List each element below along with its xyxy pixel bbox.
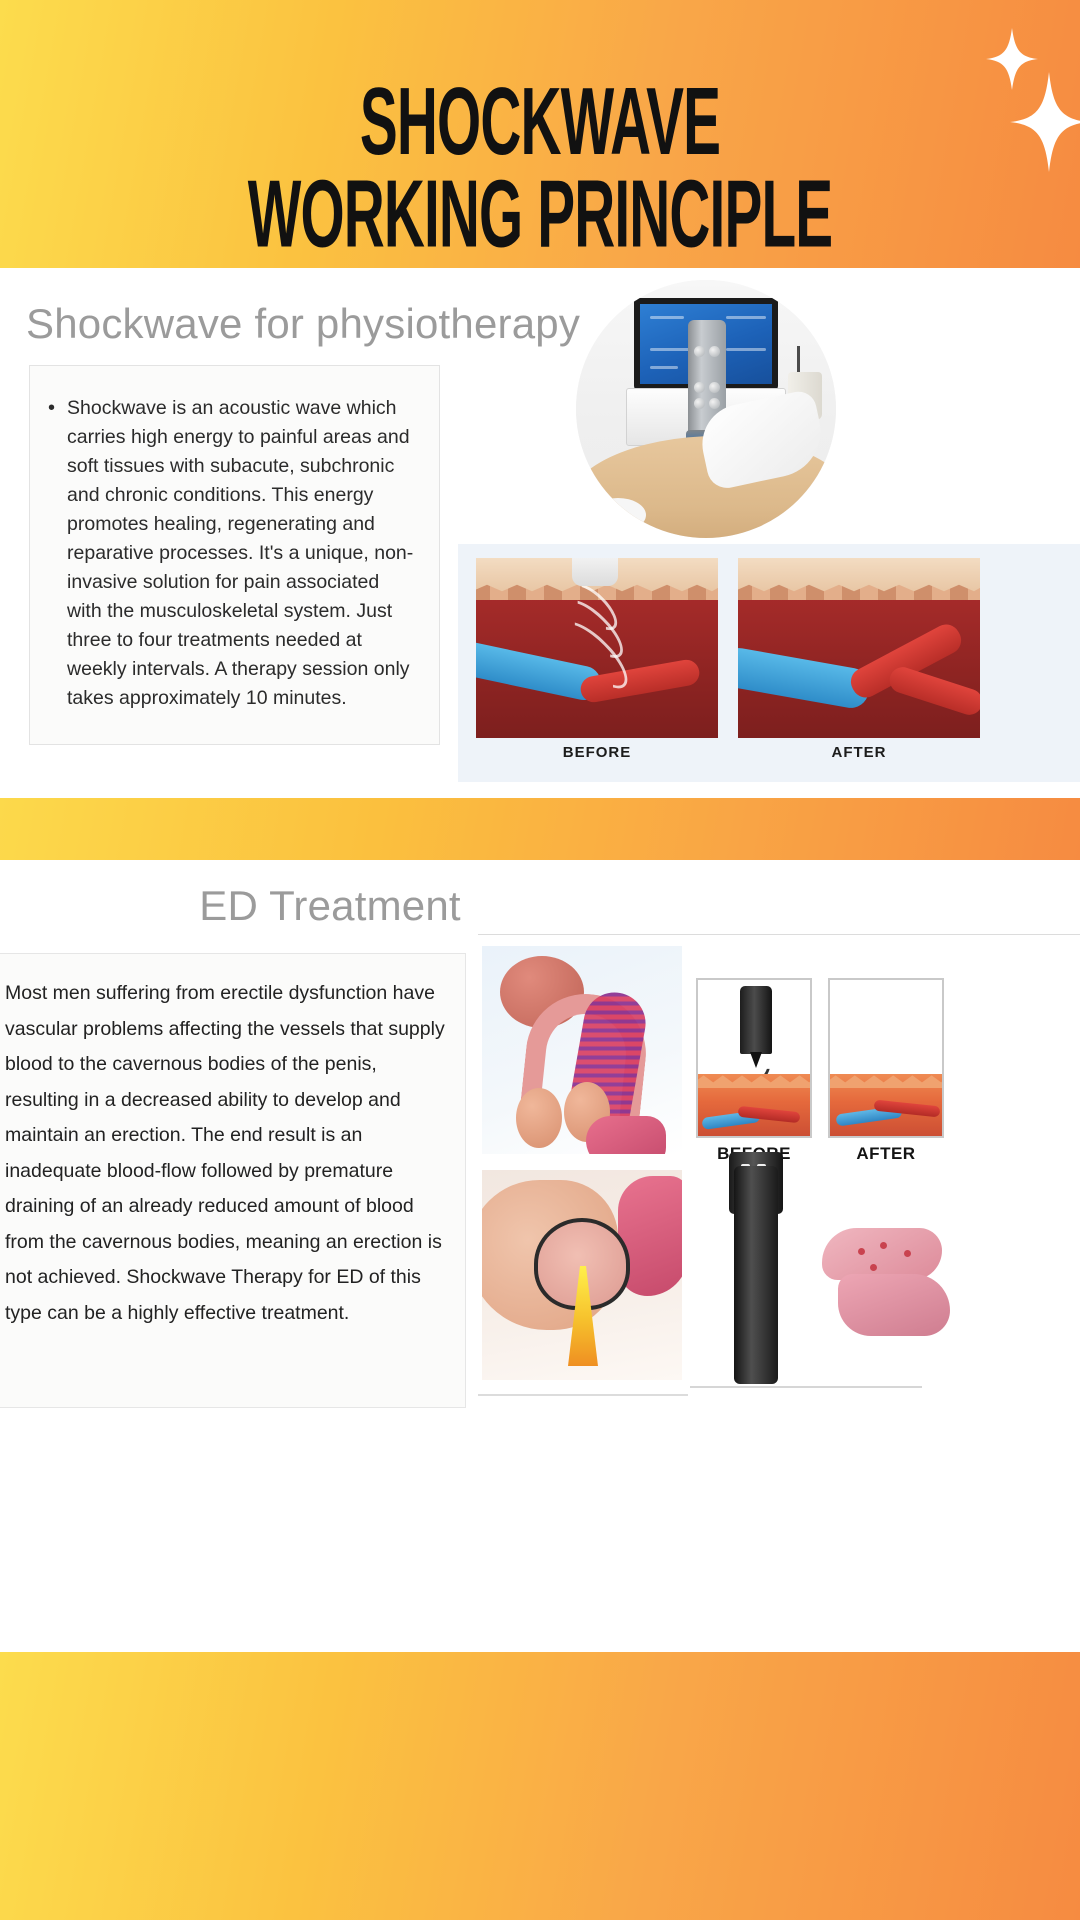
skin-layer (698, 1074, 810, 1136)
divider-line (478, 934, 1080, 935)
handheld-probe-body (734, 1166, 778, 1384)
section-ed-treatment: ED Treatment Most men suffering from ere… (0, 860, 1080, 1652)
ed-before-panel (696, 978, 812, 1138)
sparkle-large-icon (1010, 72, 1080, 172)
glans-shape (586, 1116, 666, 1154)
ed-after-panel (828, 978, 944, 1138)
skin-layer (830, 1074, 942, 1136)
towel (590, 498, 646, 532)
section1-before-after-panel: BEFORE AFTER (458, 544, 1080, 782)
tissue-before-illustration (476, 558, 718, 738)
bullet-icon: • (48, 394, 55, 423)
poster-page: SHOCKWAVE WORKING PRINCIPLE Shockwave fo… (0, 0, 1080, 1920)
divider-line-lower-left (478, 1394, 688, 1396)
tissue-after-illustration (738, 558, 980, 738)
section1-heading: Shockwave for physiotherapy (26, 300, 580, 348)
probe-body-icon (740, 986, 772, 1054)
section2-body-text: Most men suffering from erectile dysfunc… (5, 976, 451, 1331)
pelvic-cross-section-illustration (482, 1170, 682, 1380)
section1-body-text: Shockwave is an acoustic wave which carr… (67, 394, 415, 713)
header-banner: SHOCKWAVE WORKING PRINCIPLE (0, 0, 1080, 268)
divider-line-lower (690, 1386, 922, 1388)
treated-tissue-illustration (812, 1204, 972, 1354)
section1-before-label: BEFORE (476, 744, 718, 761)
male-anatomy-illustration (482, 946, 682, 1154)
shockwave-device-photo (576, 280, 836, 538)
testicle-left-shape (516, 1088, 562, 1148)
section2-after-label: AFTER (828, 1144, 944, 1164)
section2-heading: ED Treatment (0, 882, 1080, 930)
orange-divider-band (0, 798, 1080, 860)
section1-after-label: AFTER (738, 744, 980, 761)
page-title: SHOCKWAVE WORKING PRINCIPLE (76, 74, 1005, 260)
section2-text-card: Most men suffering from erectile dysfunc… (0, 953, 466, 1408)
section-physiotherapy: Shockwave for physiotherapy • Shockwave … (0, 268, 1080, 798)
applicator-head-icon (572, 558, 618, 586)
footer-banner (0, 1652, 1080, 1920)
section1-text-card: • Shockwave is an acoustic wave which ca… (29, 365, 440, 745)
section2-image-group: BEFORE AFTER (478, 934, 1080, 1574)
